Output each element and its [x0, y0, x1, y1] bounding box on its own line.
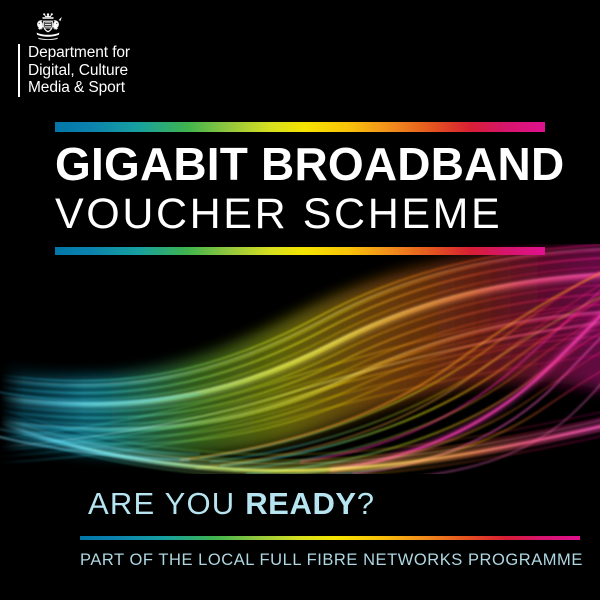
strapline: PART OF THE LOCAL FULL FIBRE NETWORKS PR… [80, 551, 583, 570]
department-line-2: Digital, Culture [28, 62, 130, 80]
poster-canvas: Department for Digital, Culture Media & … [0, 0, 600, 600]
spectrum-light-wave [0, 244, 600, 474]
page-title: GIGABIT BROADBAND [55, 139, 564, 189]
uk-royal-coat-of-arms-icon [28, 12, 68, 40]
gradient-rule-bottom [80, 536, 580, 540]
cta-prefix: ARE YOU [88, 486, 245, 521]
gradient-rule-top [55, 122, 545, 132]
cta-emphasis: READY [245, 486, 357, 521]
department-vertical-rule [18, 44, 20, 97]
gradient-rule-middle [55, 247, 545, 255]
department-line-1: Department for [28, 44, 130, 62]
department-line-3: Media & Sport [28, 79, 130, 97]
call-to-action: ARE YOU READY? [88, 487, 375, 521]
department-logo: Department for Digital, Culture Media & … [18, 12, 248, 104]
cta-suffix: ? [357, 486, 375, 521]
department-name-block: Department for Digital, Culture Media & … [18, 44, 248, 97]
page-subtitle: VOUCHER SCHEME [55, 190, 502, 238]
